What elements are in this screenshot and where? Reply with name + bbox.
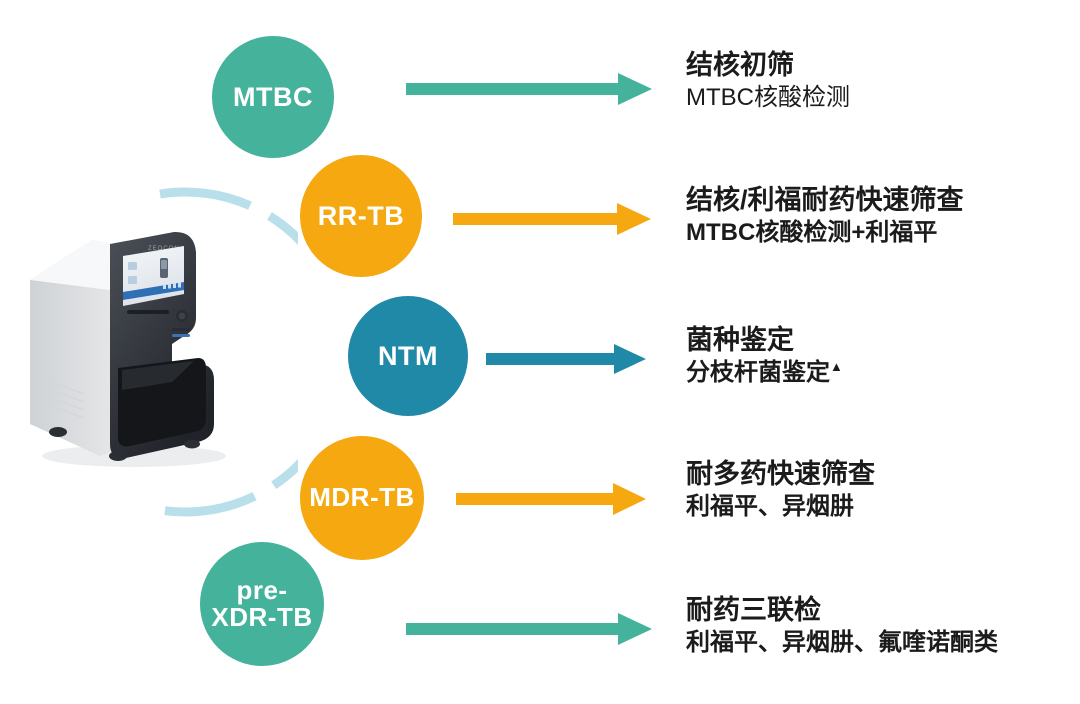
subtitle-mtbc: MTBC核酸检测 xyxy=(686,82,850,113)
bubble-pre-xdr-tb-label-group: pre- XDR-TB xyxy=(211,577,312,632)
bubble-rr-tb[interactable]: RR-TB xyxy=(300,155,422,277)
subtitle-mdr-tb: 利福平、异烟肼 xyxy=(686,491,875,522)
arrow-ntm xyxy=(486,343,648,375)
arrow-mdr-tb-svg xyxy=(456,482,648,516)
bubble-pre-xdr-tb-label-line1: pre- xyxy=(211,577,312,604)
bubble-mdr-tb[interactable]: MDR-TB xyxy=(300,436,424,560)
triangle-marker-icon: ▲ xyxy=(830,359,843,374)
instrument-svg: ZEOCON xyxy=(22,218,267,473)
subtitle-pre-xdr-tb: 利福平、异烟肼、氟喹诺酮类 xyxy=(686,627,998,658)
text-block-rr-tb: 结核/利福耐药快速筛查 MTBC核酸检测+利福平 xyxy=(686,185,964,248)
subtitle-rr-tb: MTBC核酸检测+利福平 xyxy=(686,217,964,248)
title-ntm: 菌种鉴定 xyxy=(686,325,843,357)
title-rr-tb: 结核/利福耐药快速筛查 xyxy=(686,185,964,217)
arrow-ntm-svg xyxy=(486,343,648,375)
arrow-pre-xdr-tb-svg xyxy=(406,612,654,646)
instrument-illustration: ZEOCON xyxy=(22,218,267,473)
text-block-pre-xdr-tb: 耐药三联检 利福平、异烟肼、氟喹诺酮类 xyxy=(686,595,998,658)
arrow-pre-xdr-tb xyxy=(406,612,654,646)
instrument-foot-right xyxy=(184,440,200,449)
instrument-foot-center xyxy=(109,451,127,461)
instrument-status-led xyxy=(172,334,190,337)
bubble-mdr-tb-label: MDR-TB xyxy=(309,484,415,511)
arrow-rr-tb xyxy=(453,202,653,236)
arrow-mtbc-svg xyxy=(406,72,654,106)
bubble-ntm-label: NTM xyxy=(378,342,438,370)
title-pre-xdr-tb: 耐药三联检 xyxy=(686,595,998,627)
subtitle-ntm: 分枝杆菌鉴定 xyxy=(686,359,830,386)
bubble-ntm[interactable]: NTM xyxy=(348,296,468,416)
diagram-canvas: ZEOCON xyxy=(0,0,1080,704)
instrument-indicator-bar xyxy=(172,328,190,331)
subtitle-ntm-row: 分枝杆菌鉴定▲ xyxy=(686,357,843,388)
title-mdr-tb: 耐多药快速筛查 xyxy=(686,459,875,491)
bubble-rr-tb-label: RR-TB xyxy=(318,202,404,230)
bubble-pre-xdr-tb[interactable]: pre- XDR-TB xyxy=(200,542,324,666)
text-block-mtbc: 结核初筛 MTBC核酸检测 xyxy=(686,50,850,113)
title-mtbc: 结核初筛 xyxy=(686,50,850,82)
instrument-foot-left xyxy=(49,427,67,437)
instrument-card-slot xyxy=(127,310,169,314)
bubble-mtbc[interactable]: MTBC xyxy=(212,36,334,158)
text-block-ntm: 菌种鉴定 分枝杆菌鉴定▲ xyxy=(686,325,843,388)
bubble-mtbc-label: MTBC xyxy=(233,83,313,111)
arrow-mdr-tb xyxy=(456,482,648,516)
arrow-rr-tb-svg xyxy=(453,202,653,236)
arrow-mtbc xyxy=(406,72,654,106)
bubble-pre-xdr-tb-label-line2: XDR-TB xyxy=(211,604,312,631)
text-block-mdr-tb: 耐多药快速筛查 利福平、异烟肼 xyxy=(686,459,875,522)
instrument-round-button-inner xyxy=(179,313,186,320)
